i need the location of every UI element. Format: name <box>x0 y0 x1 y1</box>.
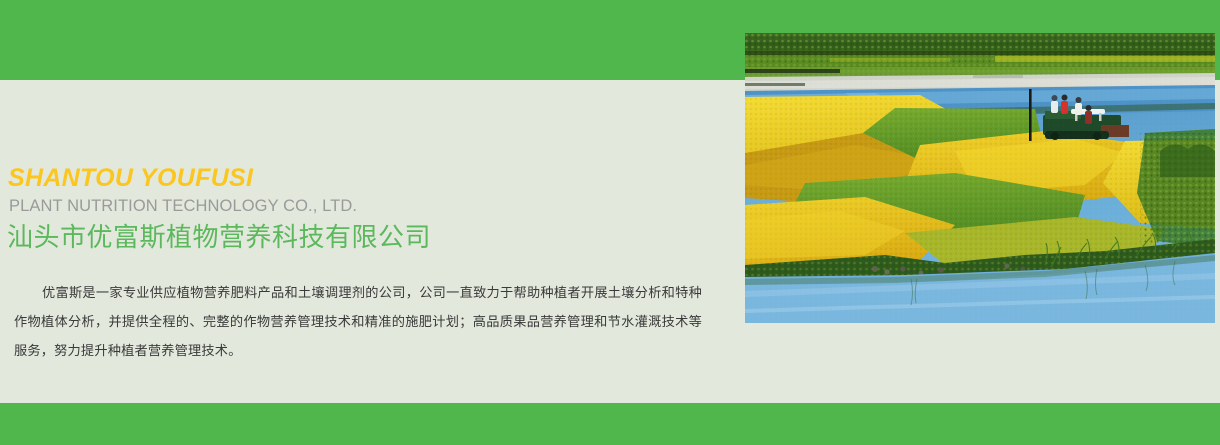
brand-subtitle-english: PLANT NUTRITION TECHNOLOGY CO., LTD. <box>9 198 357 215</box>
brand-name-english: SHANTOU YOUFUSI <box>8 166 253 191</box>
company-text-column: SHANTOU YOUFUSI PLANT NUTRITION TECHNOLO… <box>0 0 730 445</box>
rice-paddy-photo <box>745 33 1215 323</box>
rice-paddy-illustration <box>745 33 1215 323</box>
brand-name-chinese: 汕头市优富斯植物营养科技有限公司 <box>7 222 431 253</box>
company-profile-banner: SHANTOU YOUFUSI PLANT NUTRITION TECHNOLO… <box>0 0 1220 445</box>
company-description-paragraph: 优富斯是一家专业供应植物营养肥料产品和土壤调理剂的公司，公司一直致力于帮助种植者… <box>14 278 702 365</box>
